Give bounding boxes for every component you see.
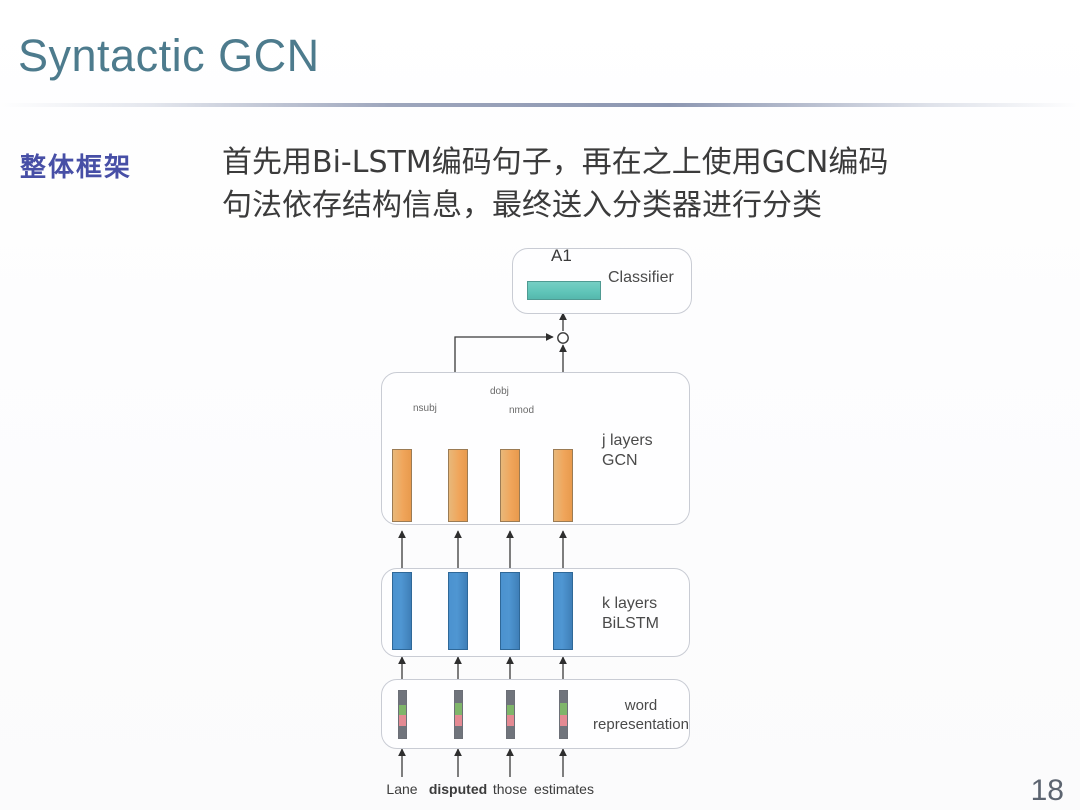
vector-segment-pink xyxy=(507,715,514,725)
vector-segment-green xyxy=(560,703,567,715)
vector-segment-pink xyxy=(399,715,406,725)
vector-segment-green xyxy=(399,705,406,715)
dependency-label-nsubj: nsubj xyxy=(413,403,437,414)
vector-segment-gray-bottom xyxy=(399,726,406,738)
vector-segment-pink xyxy=(455,715,462,725)
bilstm-label: k layers BiLSTM xyxy=(602,594,688,634)
vector-segment-gray-top xyxy=(455,691,462,703)
bilstm-label-line-1: k layers xyxy=(602,594,688,614)
vector-segment-pink xyxy=(560,715,567,725)
gcn-label: j layers GCN xyxy=(602,431,684,471)
vector-segment-green xyxy=(455,703,462,715)
page-number: 18 xyxy=(1031,774,1064,808)
classifier-output-label: A1 xyxy=(551,246,572,266)
bilstm-label-line-2: BiLSTM xyxy=(602,614,688,634)
slide-canvas: Syntactic GCN 整体框架 首先用Bi-LSTM编码句子，再在之上使用… xyxy=(0,0,1080,810)
gcn-node-2 xyxy=(448,449,468,522)
dependency-label-dobj: dobj xyxy=(490,386,509,397)
word-representation-label-line-2: representation xyxy=(588,716,694,735)
classifier-label-text: Classifier xyxy=(608,269,674,286)
vector-segment-green xyxy=(507,705,514,715)
token-label-3: those xyxy=(486,781,534,797)
vector-segment-gray-top xyxy=(399,691,406,705)
word-vector-1 xyxy=(398,690,407,739)
architecture-diagram: A1 Classifier nsubj dobj nmod j layers G… xyxy=(0,0,1080,810)
word-representation-label: word representation xyxy=(588,697,694,735)
bilstm-node-3 xyxy=(500,572,520,650)
vector-segment-gray-bottom xyxy=(560,726,567,738)
gcn-node-4 xyxy=(553,449,573,522)
vector-segment-gray-top xyxy=(507,691,514,705)
word-vector-3 xyxy=(506,690,515,739)
vector-segment-gray-bottom xyxy=(455,726,462,738)
vector-segment-gray-bottom xyxy=(507,726,514,738)
vector-segment-gray-top xyxy=(560,691,567,703)
classifier-vector-bar xyxy=(527,281,601,300)
gcn-label-line-2: GCN xyxy=(602,451,684,471)
gcn-label-line-1: j layers xyxy=(602,431,684,451)
token-label-2: disputed xyxy=(424,781,492,797)
word-representation-label-line-1: word xyxy=(588,697,694,716)
gcn-node-3 xyxy=(500,449,520,522)
token-label-1: Lane xyxy=(378,781,426,797)
dependency-label-nmod: nmod xyxy=(509,405,534,416)
token-label-4: estimates xyxy=(531,781,597,797)
bilstm-node-2 xyxy=(448,572,468,650)
classifier-label: Classifier xyxy=(608,268,688,288)
word-vector-2 xyxy=(454,690,463,739)
bilstm-node-1 xyxy=(392,572,412,650)
word-vector-4 xyxy=(559,690,568,739)
gcn-node-1 xyxy=(392,449,412,522)
bilstm-node-4 xyxy=(553,572,573,650)
